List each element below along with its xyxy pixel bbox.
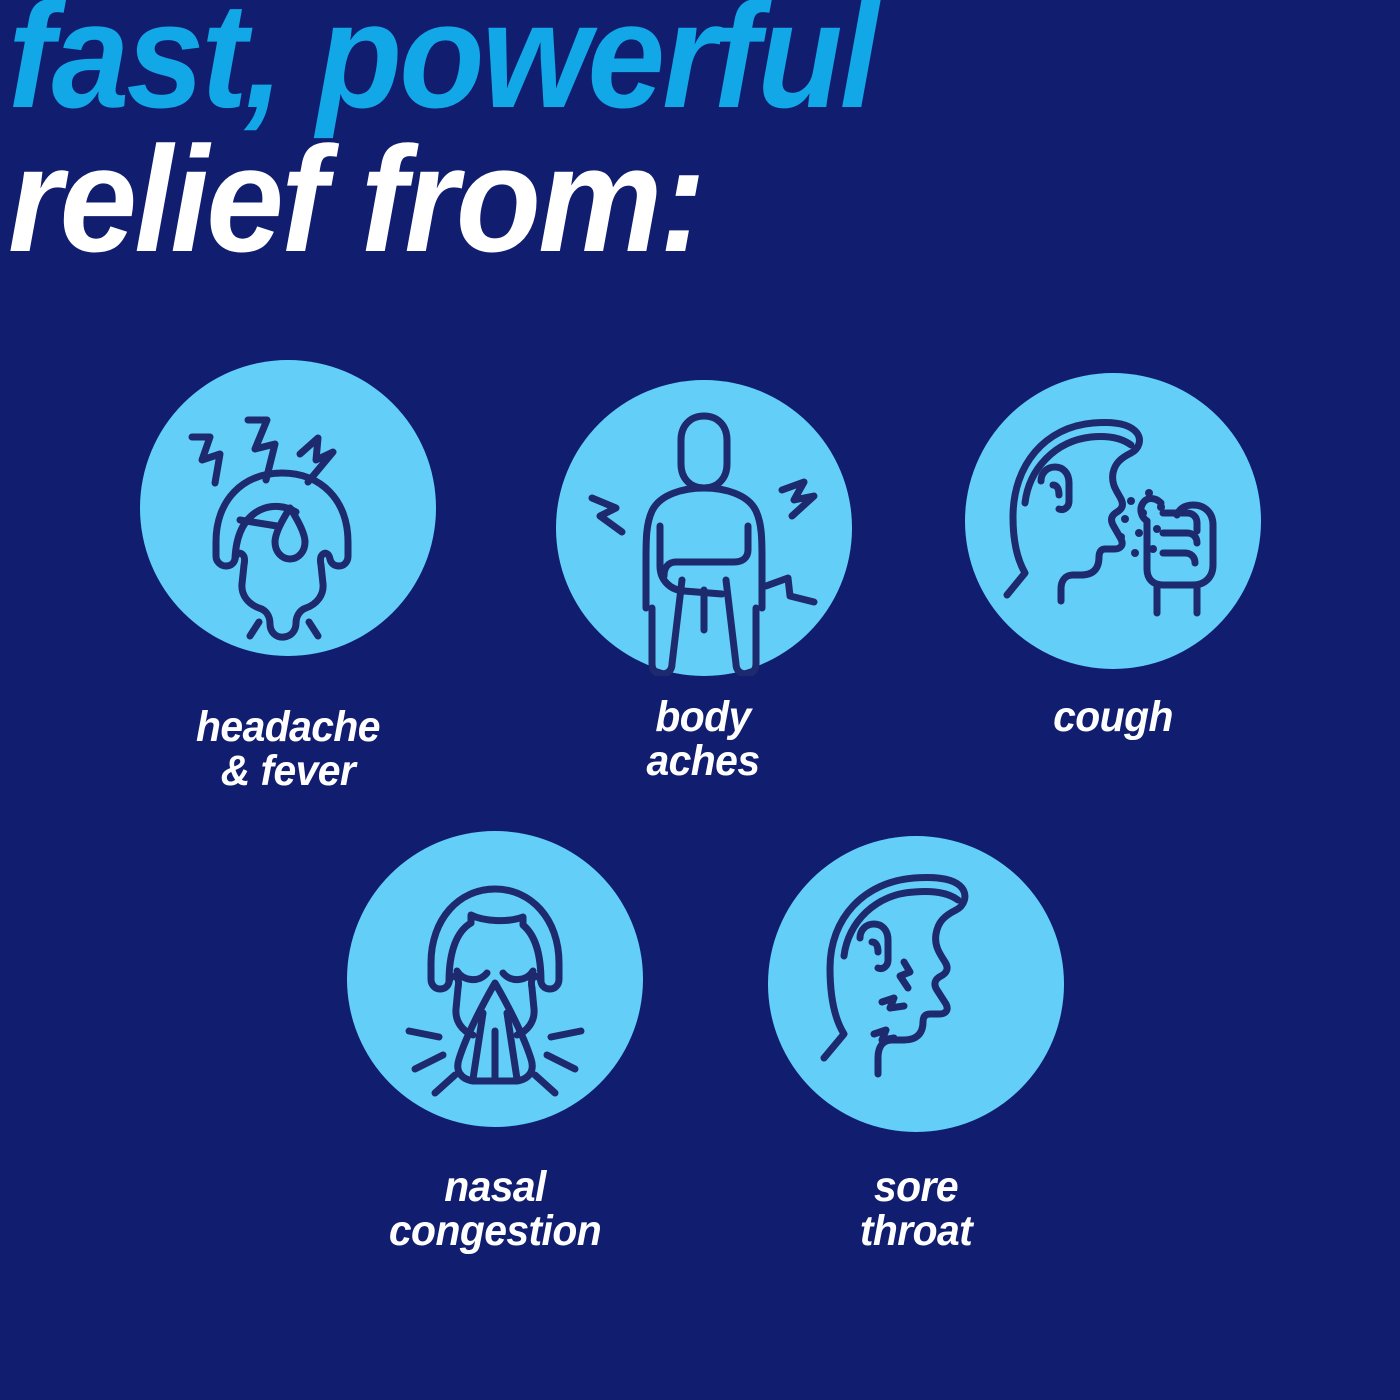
symptom-label-cough: cough <box>933 696 1294 740</box>
nasal-congestion-icon <box>347 831 643 1127</box>
symptom-label-body-aches: body aches <box>523 696 884 784</box>
headline-line-accent: fast, powerful <box>8 0 1303 124</box>
promo-graphic: fast, powerful relief from: <box>0 0 1400 1400</box>
symptom-label-headache-fever: headache & fever <box>108 706 469 794</box>
headline-block: fast, powerful relief from: <box>0 0 1400 268</box>
headache-fever-icon <box>140 360 436 656</box>
symptom-label-nasal-congestion: nasal congestion <box>315 1166 676 1254</box>
headline-line-white: relief from: <box>8 130 1303 268</box>
sore-throat-icon <box>768 836 1064 1132</box>
symptom-label-sore-throat: sore throat <box>736 1166 1097 1254</box>
body-aches-icon <box>556 380 852 676</box>
cough-icon <box>965 373 1261 669</box>
